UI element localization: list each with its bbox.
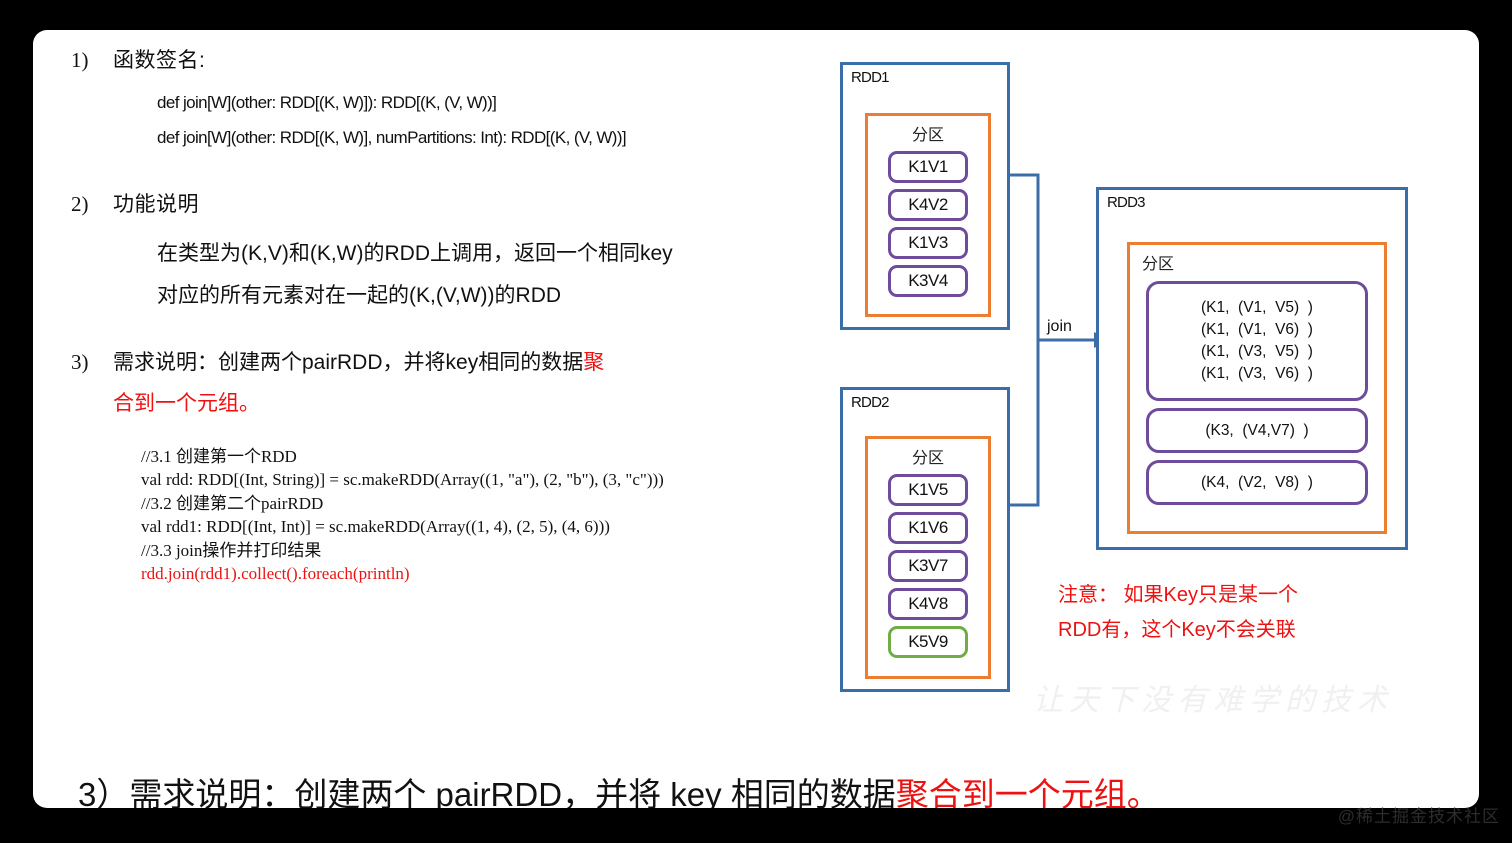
rdd2-cell: K1V5 xyxy=(888,474,968,506)
rdd3-row: (K1, (V3, V5) ) xyxy=(1201,341,1313,363)
rdd1-cell: K4V2 xyxy=(888,189,968,221)
section-2-line-2: 对应的所有元素对在一起的(K,(V,W))的RDD xyxy=(157,279,811,309)
section-2-title: 功能说明 xyxy=(113,188,199,218)
diagram-note: 注意： 如果Key只是某一个 RDD有，这个Key不会关联 xyxy=(1058,578,1298,648)
code-comment-2: //3.2 创建第二个pairRDD xyxy=(141,492,811,515)
caption-suffix: 。 xyxy=(1127,776,1160,808)
section-1-marker: 1) xyxy=(71,48,113,73)
rdd3-row: (K3, (V4,V7) ) xyxy=(1205,420,1308,442)
watermark-slogan: 让天下没有难学的技术 xyxy=(1033,675,1393,719)
code-comment-1: //3.1 创建第一个RDD xyxy=(141,445,811,468)
rdd1-label: RDD1 xyxy=(851,69,889,86)
slide-card: 1) 函数签名: def join[W](other: RDD[(K, W)])… xyxy=(33,30,1479,808)
code-statement-3: rdd.join(rdd1).collect().foreach(println… xyxy=(141,562,811,585)
rdd2-cell: K4V8 xyxy=(888,588,968,620)
corner-watermark: @稀土掘金技术社区 xyxy=(1338,802,1500,827)
caption-prefix: 3）需求说明：创建两个 xyxy=(78,776,436,808)
rdd3-partition-label: 分区 xyxy=(1142,250,1384,274)
rdd2-box: RDD2 分区 K1V5 K1V6 K3V7 K4V8 K5V9 xyxy=(840,387,1010,692)
code-statement-2: val rdd1: RDD[(Int, Int)] = sc.makeRDD(A… xyxy=(141,515,811,538)
section-3-marker: 3) xyxy=(71,350,113,375)
section-2-heading: 2) 功能说明 xyxy=(71,188,811,218)
rdd1-partition-label: 分区 xyxy=(868,121,988,145)
rdd1-box: RDD1 分区 K1V1 K4V2 K1V3 K3V4 xyxy=(840,62,1010,330)
rdd3-label: RDD3 xyxy=(1107,194,1145,211)
caption-middle: ，并将 key 相同的数据 xyxy=(562,776,896,808)
section-1-heading: 1) 函数签名: xyxy=(71,44,811,74)
rdd2-cell: K5V9 xyxy=(888,626,968,658)
rdd2-partition-label: 分区 xyxy=(868,444,988,468)
section-3-line-1-black: 需求说明：创建两个pairRDD，并将key相同的数据 xyxy=(113,351,583,374)
section-2-marker: 2) xyxy=(71,192,113,217)
diagram-note-line-2: RDD有，这个Key不会关联 xyxy=(1058,613,1298,648)
rdd3-group: (K1, (V1, V5) ) (K1, (V1, V6) ) (K1, (V3… xyxy=(1146,281,1368,401)
rdd1-cell: K1V1 xyxy=(888,151,968,183)
join-operation-label: join xyxy=(1047,318,1072,336)
rdd3-row: (K1, (V1, V5) ) xyxy=(1201,297,1313,319)
section-3-line-1-red: 聚 xyxy=(583,351,604,374)
function-signature-1: def join[W](other: RDD[(K, W)]): RDD[(K,… xyxy=(157,93,811,113)
rdd2-cell: K1V6 xyxy=(888,512,968,544)
caption-squiggle-word: pairRDD xyxy=(436,776,563,808)
section-3-line-2: 合到一个元组。 xyxy=(113,387,811,417)
code-statement-1: val rdd: RDD[(Int, String)] = sc.makeRDD… xyxy=(141,468,811,491)
caption-red: 聚合到一个元组 xyxy=(896,776,1127,808)
function-signature-2: def join[W](other: RDD[(K, W)], numParti… xyxy=(157,128,811,148)
rdd1-cell: K3V4 xyxy=(888,265,968,297)
code-block: //3.1 创建第一个RDD val rdd: RDD[(Int, String… xyxy=(141,445,811,586)
diagram-note-line-1: 注意： 如果Key只是某一个 xyxy=(1058,578,1298,613)
text-column: 1) 函数签名: def join[W](other: RDD[(K, W)])… xyxy=(71,38,811,586)
rdd3-row: (K1, (V3, V6) ) xyxy=(1201,363,1313,385)
rdd2-label: RDD2 xyxy=(851,394,889,411)
rdd3-row: (K1, (V1, V6) ) xyxy=(1201,319,1313,341)
rdd2-partition-box: 分区 K1V5 K1V6 K3V7 K4V8 K5V9 xyxy=(865,436,991,679)
section-3-line-1: 需求说明：创建两个pairRDD，并将key相同的数据聚 xyxy=(113,346,604,376)
code-comment-3: //3.3 join操作并打印结果 xyxy=(141,539,811,562)
rdd3-partition-box: 分区 (K1, (V1, V5) ) (K1, (V1, V6) ) (K1, … xyxy=(1127,242,1387,534)
rdd3-row: (K4, (V2, V8) ) xyxy=(1201,472,1313,494)
bottom-caption: 3）需求说明：创建两个 pairRDD，并将 key 相同的数据聚合到一个元组。 xyxy=(78,768,1160,808)
section-3-heading: 3) 需求说明：创建两个pairRDD，并将key相同的数据聚 xyxy=(71,346,811,376)
rdd1-cell: K1V3 xyxy=(888,227,968,259)
section-2-line-1: 在类型为(K,V)和(K,W)的RDD上调用，返回一个相同key xyxy=(157,237,811,267)
rdd2-cell: K3V7 xyxy=(888,550,968,582)
rdd3-group: (K3, (V4,V7) ) xyxy=(1146,408,1368,453)
rdd3-group: (K4, (V2, V8) ) xyxy=(1146,460,1368,505)
rdd3-box: RDD3 分区 (K1, (V1, V5) ) (K1, (V1, V6) ) … xyxy=(1096,187,1408,550)
section-1-title: 函数签名: xyxy=(113,44,205,74)
rdd-join-diagram: RDD1 分区 K1V1 K4V2 K1V3 K3V4 RDD2 分区 K1V5… xyxy=(798,30,1468,730)
rdd1-partition-box: 分区 K1V1 K4V2 K1V3 K3V4 xyxy=(865,113,991,317)
